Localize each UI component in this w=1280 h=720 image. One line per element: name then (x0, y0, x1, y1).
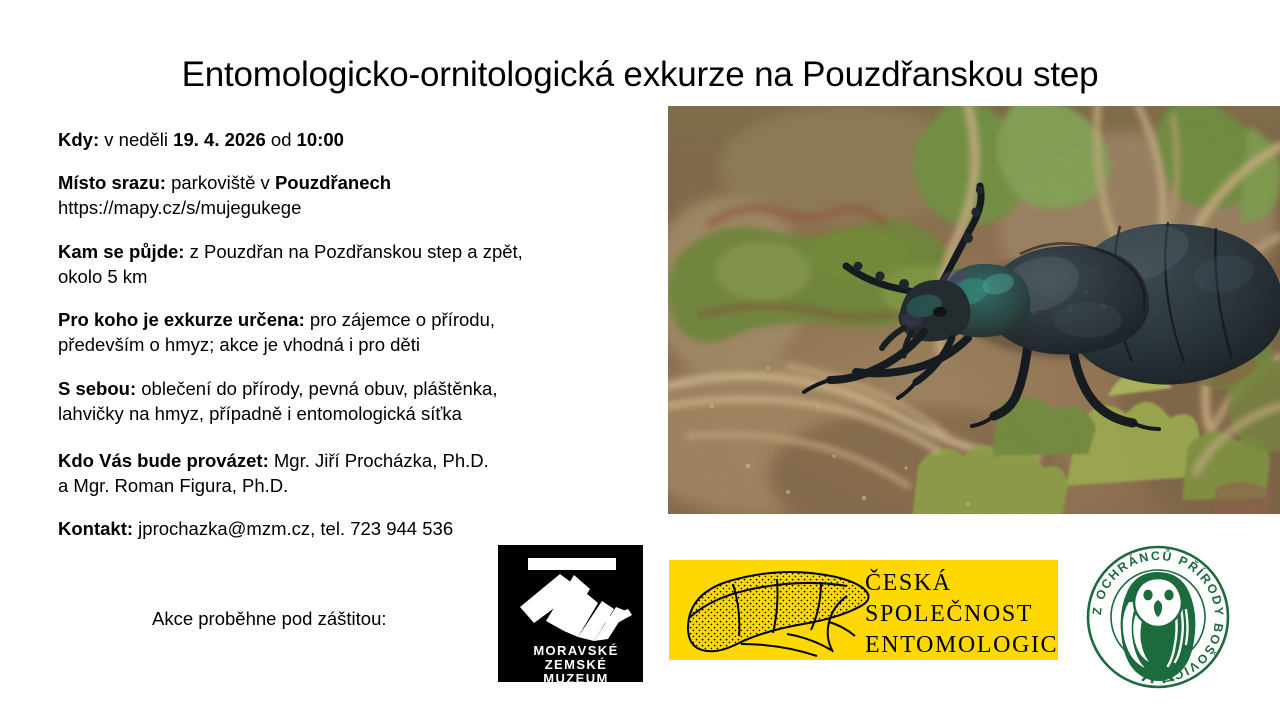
detail-when-time: 10:00 (297, 129, 344, 150)
logo-cse-line3: ENTOMOLOGICKÁ (865, 632, 1058, 658)
detail-guides: Kdo Vás bude provázet: Mgr. Jiří Procház… (58, 448, 648, 498)
detail-contact: Kontakt: jprochazka@mzm.cz, tel. 723 944… (58, 516, 648, 541)
logo-cse-line1: ČESKÁ (865, 569, 952, 596)
logo-mzm-line3: MUZEUM (543, 671, 608, 682)
detail-route-text: z Pouzdřan na Pozdřanskou step a zpět, (184, 241, 522, 262)
detail-meeting-point-village: Pouzdřanech (275, 172, 391, 193)
detail-route-label: Kam se půjde: (58, 241, 184, 262)
detail-meeting-point: Místo srazu: parkoviště v Pouzdřanech ht… (58, 170, 648, 220)
logo-ceska-spolecnost-entomologicka: Česká společnost entomologická ČESKÁ SPO… (669, 560, 1058, 660)
detail-audience-text: pro zájemce o přírodu, (305, 309, 495, 330)
detail-audience: Pro koho je exkurze určena: pro zájemce … (58, 307, 648, 357)
logo-moravske-zemske-muzeum: Moravské zemské muzeum MORAVSKÉ ZEMSKÉ M… (498, 545, 643, 682)
detail-audience-line2: především o hmyz; akce je vhodná i pro d… (58, 332, 648, 357)
page-title: Entomologicko-ornitologická exkurze na P… (0, 56, 1280, 95)
detail-route-line2: okolo 5 km (58, 264, 648, 289)
detail-guides-line2: a Mgr. Roman Figura, Ph.D. (58, 473, 648, 498)
sponsor-caption: Akce proběhne pod záštitou: (152, 608, 387, 630)
detail-when-date: 19. 4. 2026 (173, 129, 266, 150)
detail-contact-text[interactable]: jprochazka@mzm.cz, tel. 723 944 536 (133, 518, 453, 539)
detail-meeting-point-label: Místo srazu: (58, 172, 166, 193)
detail-when-text-b: od (266, 129, 297, 150)
detail-meeting-point-text: parkoviště v (166, 172, 275, 193)
detail-when-text-a: v neděli (99, 129, 173, 150)
logo-mzm-line2: ZEMSKÉ (545, 657, 608, 672)
detail-bring-label: S sebou: (58, 378, 136, 399)
detail-guides-label: Kdo Vás bude provázet: (58, 450, 269, 471)
detail-when-label: Kdy: (58, 129, 99, 150)
logo-csop-bosovice: Český svaz ochránců přírody Bošovice ČES… (1085, 544, 1231, 690)
detail-bring-line2: lahvičky na hmyz, případně i entomologic… (58, 401, 648, 426)
logo-mzm-line1: MORAVSKÉ (533, 643, 618, 658)
detail-contact-label: Kontakt: (58, 518, 133, 539)
detail-audience-label: Pro koho je exkurze určena: (58, 309, 305, 330)
detail-bring: S sebou: oblečení do přírody, pevná obuv… (58, 376, 648, 426)
event-details: Kdy: v neděli 19. 4. 2026 od 10:00 Místo… (58, 108, 648, 541)
beetle-photograph: Makro fotografie majky (Meloe) na půdě s… (668, 106, 1280, 514)
detail-route: Kam se půjde: z Pouzdřan na Pozdřanskou … (58, 239, 648, 289)
logo-cse-line2: SPOLEČNOST (865, 600, 1033, 627)
map-link[interactable]: https://mapy.cz/s/mujegukege (58, 195, 648, 220)
detail-when: Kdy: v neděli 19. 4. 2026 od 10:00 (58, 127, 648, 152)
detail-bring-text: oblečení do přírody, pevná obuv, pláštěn… (136, 378, 497, 399)
detail-guides-text: Mgr. Jiří Procházka, Ph.D. (269, 450, 489, 471)
